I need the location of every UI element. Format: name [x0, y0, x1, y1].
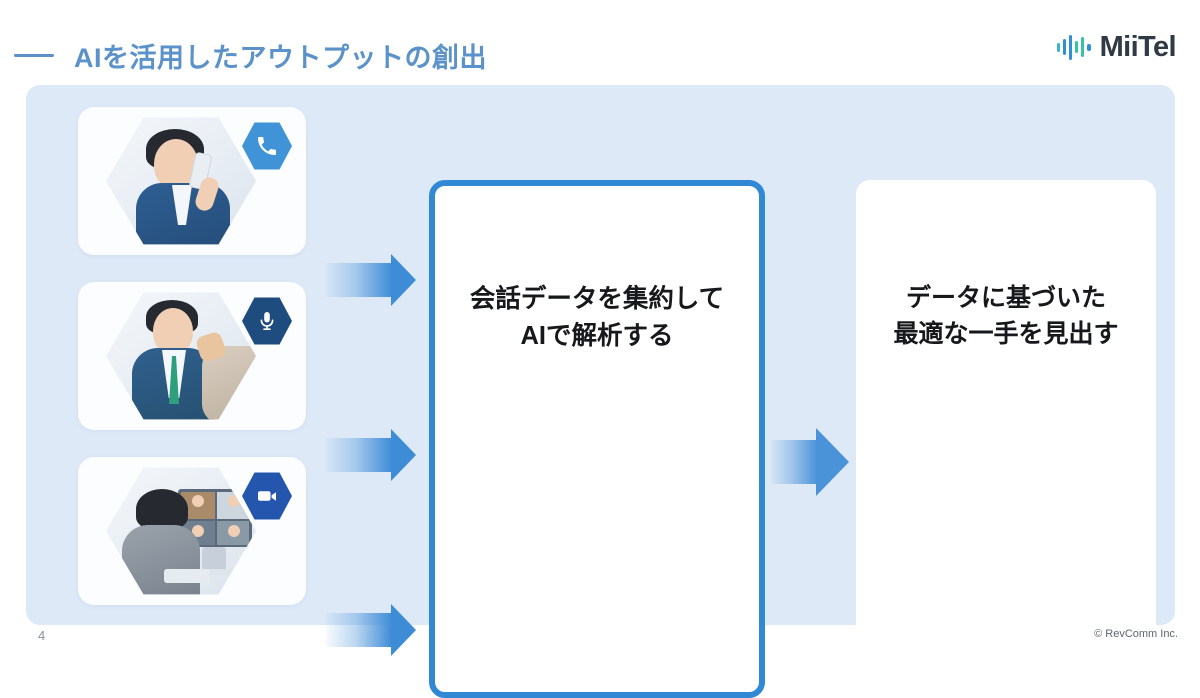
copyright-notice: © RevComm Inc.: [1094, 628, 1178, 640]
video-camera-icon: [242, 471, 292, 521]
content-panel: 会話データを集約して AIで解析する: [26, 85, 1175, 625]
miitel-logo: MiiTel: [1057, 30, 1176, 64]
source-card-video-meeting: [78, 457, 306, 605]
flow-arrow-video-to-center: [326, 613, 392, 647]
flow-arrow-center-to-result: [771, 440, 817, 484]
source-photo-video-meeting: [106, 465, 256, 597]
slide-header: AIを活用したアウトプットの創出 MiiTel: [0, 0, 1200, 85]
source-photo-in-person-meeting: [106, 290, 256, 422]
source-card-in-person-meeting: [78, 282, 306, 430]
phone-icon: [242, 121, 292, 171]
source-card-phone-call: [78, 107, 306, 255]
page-title: AIを活用したアウトプットの創出: [74, 36, 487, 75]
title-accent-dash: [14, 54, 54, 57]
page-number: 4: [38, 628, 45, 643]
center-process-box: 会話データを集約して AIで解析する: [429, 180, 765, 698]
center-box-heading: 会話データを集約して AIで解析する: [435, 281, 759, 355]
source-photo-phone-call: [106, 115, 256, 247]
flow-arrow-meeting-to-center: [326, 438, 392, 472]
miitel-waveform-logo-icon: [1057, 34, 1091, 60]
microphone-icon: [242, 296, 292, 346]
result-card: データに基づいた 最適な一手を見出す: [856, 180, 1156, 698]
flow-arrow-phone-to-center: [326, 263, 392, 297]
miitel-logo-text: MiiTel: [1100, 33, 1176, 62]
result-card-heading: データに基づいた 最適な一手を見出す: [856, 280, 1156, 353]
